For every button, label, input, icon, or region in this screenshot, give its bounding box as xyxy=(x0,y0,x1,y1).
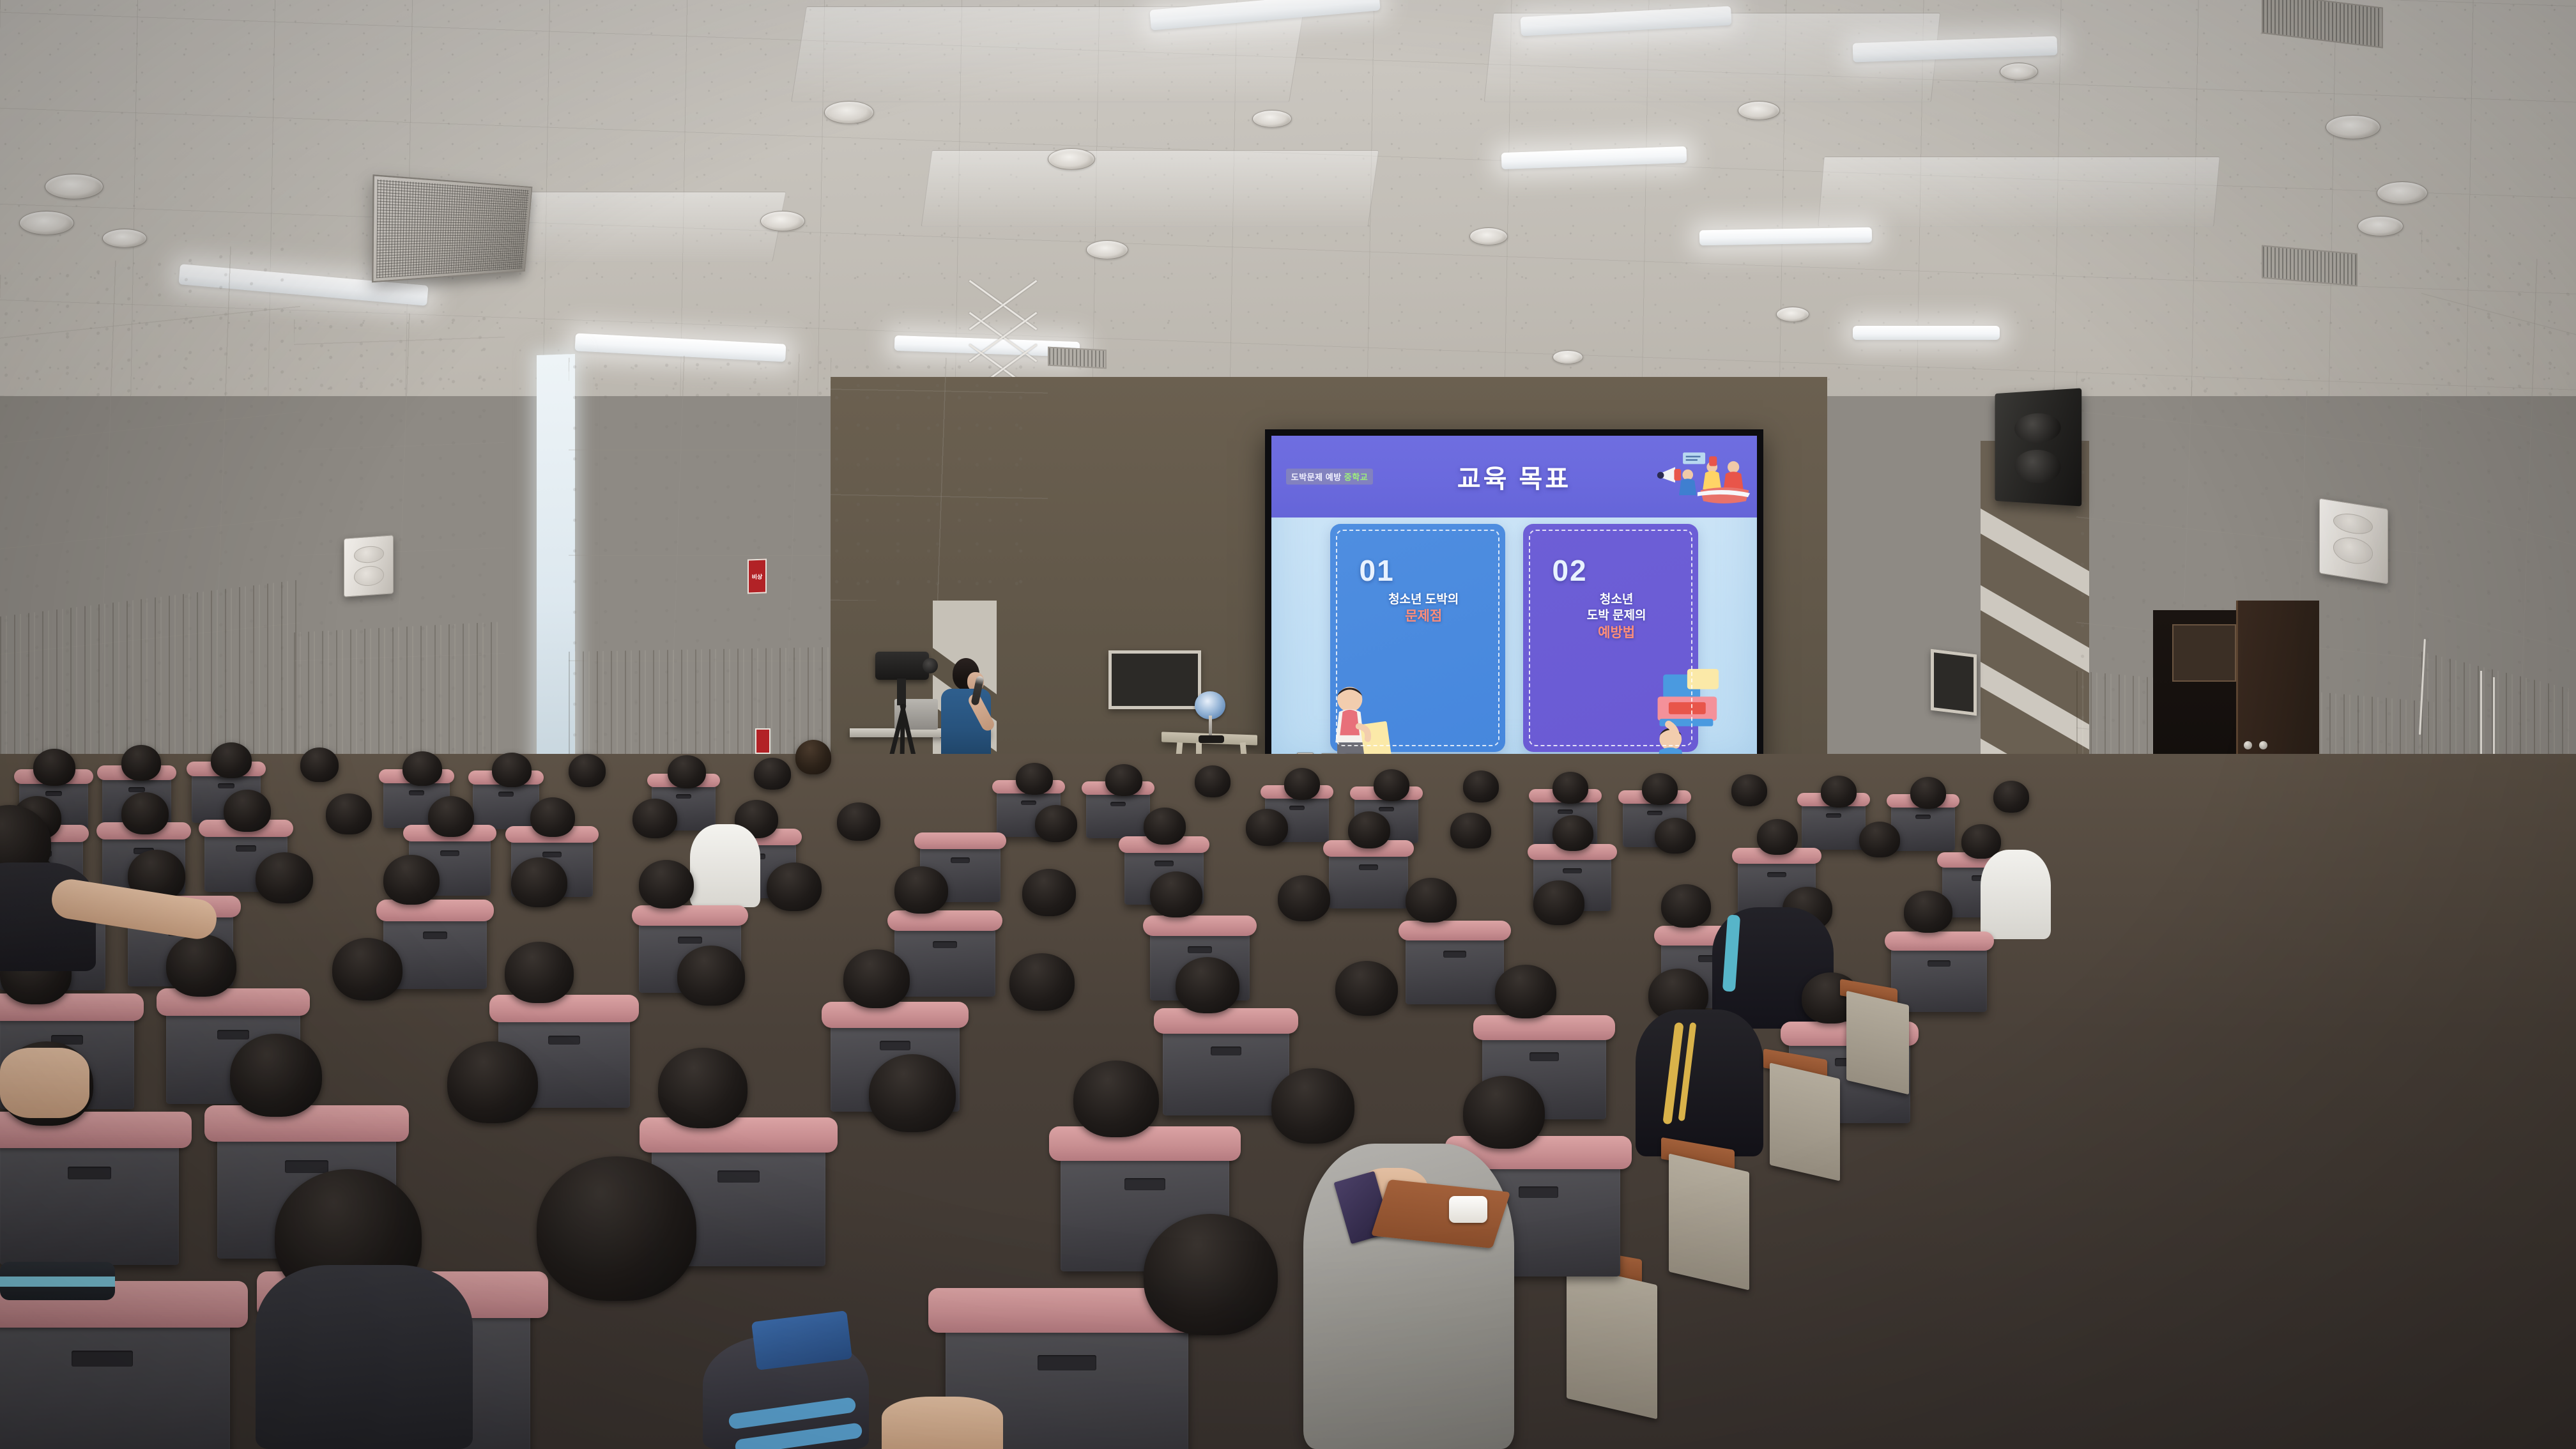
speaker-driver xyxy=(2014,413,2061,443)
seat[interactable] xyxy=(0,1124,179,1265)
student-head xyxy=(326,793,372,834)
student-head xyxy=(1335,961,1398,1016)
student-head xyxy=(300,747,339,782)
student-torso xyxy=(690,824,760,907)
card-line-2: 도박 문제의 xyxy=(1587,609,1646,622)
student-head xyxy=(1450,813,1491,848)
seat[interactable] xyxy=(1163,1017,1289,1115)
student-head xyxy=(677,946,745,1006)
student-head xyxy=(632,799,677,838)
downlight xyxy=(1086,240,1128,259)
student-head xyxy=(224,790,271,832)
wall-speaker-right xyxy=(2319,498,2388,584)
fold-out-desk[interactable] xyxy=(1567,1264,1657,1420)
earbuds-case[interactable] xyxy=(1449,1196,1487,1223)
student-head xyxy=(1993,781,2029,813)
exit-sign-text: 비상 xyxy=(752,572,763,581)
student-head xyxy=(1552,772,1588,804)
student-head xyxy=(1016,763,1053,795)
speaker-driver xyxy=(2014,449,2061,484)
student-head xyxy=(837,802,880,841)
student-head xyxy=(894,866,948,914)
student-head xyxy=(1246,809,1288,846)
student-head xyxy=(1271,1068,1354,1144)
student-head xyxy=(1642,773,1678,805)
student-head xyxy=(428,796,474,837)
student-head xyxy=(1284,768,1320,800)
fold-out-desk[interactable] xyxy=(1846,991,1909,1095)
student-head xyxy=(1035,805,1077,842)
card-line-1: 청소년 xyxy=(1600,593,1633,606)
speaker-driver xyxy=(354,565,384,586)
student-head xyxy=(1757,819,1798,855)
downlight xyxy=(45,174,103,199)
wall-speaker-left xyxy=(344,535,394,597)
downlight xyxy=(1252,110,1292,128)
student-head xyxy=(1195,765,1230,797)
slide-header: 도박문제 예방 중학교 교육 목표 xyxy=(1271,436,1757,517)
student-head xyxy=(658,1048,747,1128)
student-head xyxy=(511,857,567,907)
student-head xyxy=(1552,815,1593,851)
downlight xyxy=(102,229,147,248)
student-head xyxy=(569,754,606,787)
downlight xyxy=(760,211,805,231)
seat[interactable] xyxy=(0,1297,230,1449)
slide-card-1: 01 청소년 도박의 문제점 xyxy=(1330,524,1506,752)
student-head xyxy=(230,1034,322,1117)
student-head xyxy=(1009,953,1075,1011)
student-head xyxy=(447,1041,538,1123)
student-head xyxy=(1176,957,1239,1013)
student-head xyxy=(1904,891,1952,933)
wall-monitor xyxy=(1108,650,1201,709)
student-head xyxy=(668,755,706,788)
card-number: 02 xyxy=(1552,557,1669,585)
downlight xyxy=(2357,216,2403,236)
student-head xyxy=(795,740,831,774)
video-camera xyxy=(875,652,929,680)
student-head xyxy=(1661,884,1711,928)
student-head xyxy=(505,942,574,1003)
door-knob[interactable] xyxy=(2244,741,2252,749)
student-head xyxy=(1821,776,1857,808)
megaphone-people-icon xyxy=(1653,438,1750,516)
speaker-driver xyxy=(2333,511,2372,537)
slide: 도박문제 예방 중학교 교육 목표 xyxy=(1271,436,1757,762)
student-head xyxy=(1655,818,1696,854)
student-head xyxy=(1406,878,1457,923)
stage-wall-upper-left xyxy=(831,358,1048,601)
downlight xyxy=(19,211,74,235)
downlight xyxy=(1469,227,1508,245)
student-head xyxy=(33,749,75,786)
student-head xyxy=(1348,811,1390,848)
projection-screen[interactable]: 도박문제 예방 중학교 교육 목표 xyxy=(1265,429,1763,768)
tripod-head xyxy=(897,678,906,705)
emergency-exit-sign xyxy=(755,728,770,754)
student-head xyxy=(1463,1076,1545,1149)
ceiling-speaker xyxy=(372,174,532,282)
student-head xyxy=(639,860,694,908)
student-head xyxy=(166,934,236,997)
strip-light xyxy=(1699,227,1872,246)
student-torso xyxy=(256,1265,473,1449)
card-accent: 예방법 xyxy=(1564,624,1669,642)
door-transom-panel xyxy=(2172,624,2236,682)
student-head xyxy=(1022,869,1076,916)
student-head xyxy=(530,797,575,837)
seat[interactable] xyxy=(1891,938,1987,1012)
emblem-stem xyxy=(1209,716,1212,737)
card-caption: 청소년 도박의 문제점 xyxy=(1360,592,1476,626)
downlight xyxy=(1776,307,1809,322)
student-head xyxy=(402,751,442,786)
student-head xyxy=(1278,875,1330,921)
student-head xyxy=(332,938,402,1000)
downlight xyxy=(824,101,874,124)
slide-cards: 01 청소년 도박의 문제점 xyxy=(1271,524,1757,752)
student-head xyxy=(1144,1214,1278,1335)
speaker-driver xyxy=(354,546,384,563)
student-head xyxy=(1374,769,1409,801)
fold-out-desk[interactable] xyxy=(1770,1062,1840,1181)
student-head xyxy=(869,1054,956,1132)
speaker-driver xyxy=(2333,535,2372,566)
seat[interactable] xyxy=(1329,846,1408,908)
downlight xyxy=(1552,350,1583,364)
card-caption: 청소년 도박 문제의 예방법 xyxy=(1552,592,1669,643)
student-head xyxy=(383,855,440,905)
student-head xyxy=(1463,770,1499,802)
student-figure-icon xyxy=(1319,674,1400,762)
downlight xyxy=(1048,148,1095,170)
slide-card-2: 02 청소년 도박 문제의 예방법 xyxy=(1523,524,1699,752)
student-hands xyxy=(882,1397,1003,1449)
emblem-base xyxy=(1199,735,1224,743)
student-head xyxy=(1073,1061,1159,1137)
student-head xyxy=(537,1156,696,1301)
wall-speaker-black xyxy=(1995,388,2082,506)
seat[interactable] xyxy=(1406,928,1504,1004)
student-head xyxy=(1859,822,1900,857)
student-arm xyxy=(0,1048,89,1118)
student-head xyxy=(767,862,822,911)
student-head xyxy=(211,742,252,778)
student-torso xyxy=(1981,850,2051,939)
auditorium-scene: 도박문제 예방 중학교 교육 목표 xyxy=(0,0,2576,1449)
student-head xyxy=(1533,880,1584,925)
student-head xyxy=(1144,808,1186,845)
card-line-1: 청소년 도박의 xyxy=(1388,593,1459,606)
student-torso xyxy=(1636,1009,1763,1156)
student-head xyxy=(1910,777,1946,809)
student-head xyxy=(492,753,532,787)
camera-lens xyxy=(923,658,938,673)
student-head xyxy=(1105,764,1142,796)
wall-picture-frame xyxy=(1931,649,1977,716)
ceiling-recess-panel xyxy=(921,150,1379,227)
sleeve-stripe xyxy=(0,1276,115,1287)
downlight xyxy=(2377,181,2428,204)
person-carrying-boxes-icon xyxy=(1632,656,1733,762)
student-head xyxy=(121,745,161,781)
student-head xyxy=(1495,965,1556,1018)
downlight xyxy=(1738,101,1780,120)
student-head xyxy=(256,852,313,903)
card-accent: 문제점 xyxy=(1371,608,1476,625)
student-head xyxy=(1150,871,1202,917)
emergency-exit-sign: 비상 xyxy=(747,558,767,594)
student-head xyxy=(754,758,791,790)
ceiling-recess-panel xyxy=(1818,157,2220,227)
student-head xyxy=(121,792,169,834)
downlight xyxy=(2326,115,2380,139)
fold-out-desk[interactable] xyxy=(1669,1153,1749,1290)
speaker-mesh xyxy=(376,180,529,279)
downlight xyxy=(2000,63,2038,80)
student-head xyxy=(1731,774,1767,806)
door-knob[interactable] xyxy=(2259,741,2267,749)
card-number: 01 xyxy=(1360,557,1476,585)
student-head xyxy=(843,949,910,1008)
strip-light xyxy=(1853,326,2000,340)
